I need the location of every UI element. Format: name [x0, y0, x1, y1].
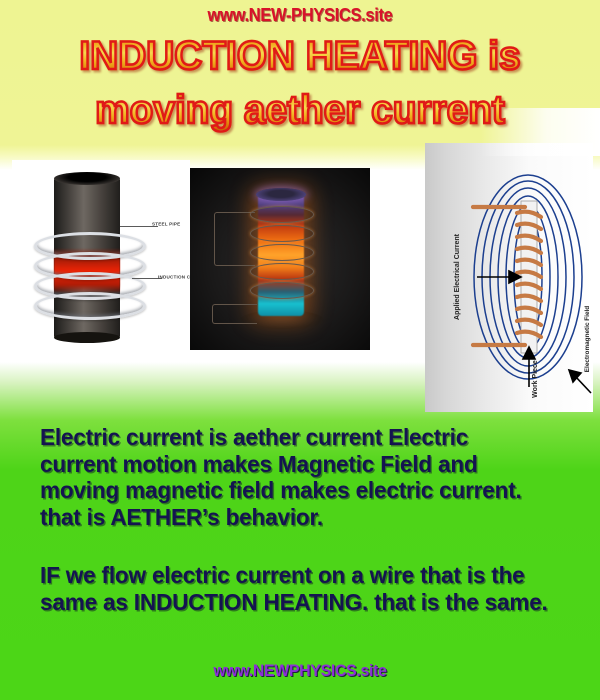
- electromagnetic-field-arrow: [569, 370, 591, 393]
- body-paragraph-1: Electric current is aether current Elect…: [40, 424, 549, 530]
- top-site-url: www.NEW-PHYSICS.site: [24, 5, 576, 26]
- image-glowing-billet-photo: [190, 168, 370, 350]
- label-steel-pipe: STEEL PIPE: [152, 221, 180, 226]
- copper-coil-turn: [250, 244, 314, 261]
- bottom-site-url: www.NEWPHYSICS.site: [21, 661, 579, 681]
- poster-title-line-1: INDUCTION HEATING is: [9, 36, 591, 76]
- image-magnetic-field-diagram: Applied Electrical Current Work Piece El…: [425, 143, 593, 412]
- label-work-piece: Work Piece: [532, 360, 539, 398]
- induction-coil-turn: [34, 292, 146, 320]
- poster-canvas: www.NEW-PHYSICS.site INDUCTION HEATING i…: [0, 0, 600, 700]
- poster-title-line-2: moving aether current: [9, 90, 591, 130]
- coil-lead-upper: [214, 212, 255, 266]
- copper-coil-turn: [250, 263, 314, 280]
- body-paragraph-2: IF we flow electric current on a wire th…: [40, 562, 549, 615]
- field-diagram-svg: Applied Electrical Current Work Piece El…: [425, 143, 593, 412]
- copper-coil-turn: [250, 206, 314, 223]
- label-applied-electrical-current: Applied Electrical Current: [454, 233, 461, 320]
- coil-lead-lower: [212, 304, 257, 324]
- label-induction-coil: INDUCTION COIL: [158, 274, 190, 279]
- header-band: www.NEW-PHYSICS.site INDUCTION HEATING i…: [0, 0, 600, 150]
- copper-coil-turn: [250, 225, 314, 242]
- label-electromagnetic-field: Electromagnetic Field: [584, 306, 591, 373]
- workpiece-top-cap: [256, 188, 306, 201]
- pipe-bottom-edge: [54, 332, 120, 343]
- image-steel-pipe-coil: STEEL PIPE INDUCTION COIL: [12, 160, 190, 360]
- copper-coil-turn: [250, 282, 314, 299]
- pipe-top-opening: [54, 172, 120, 185]
